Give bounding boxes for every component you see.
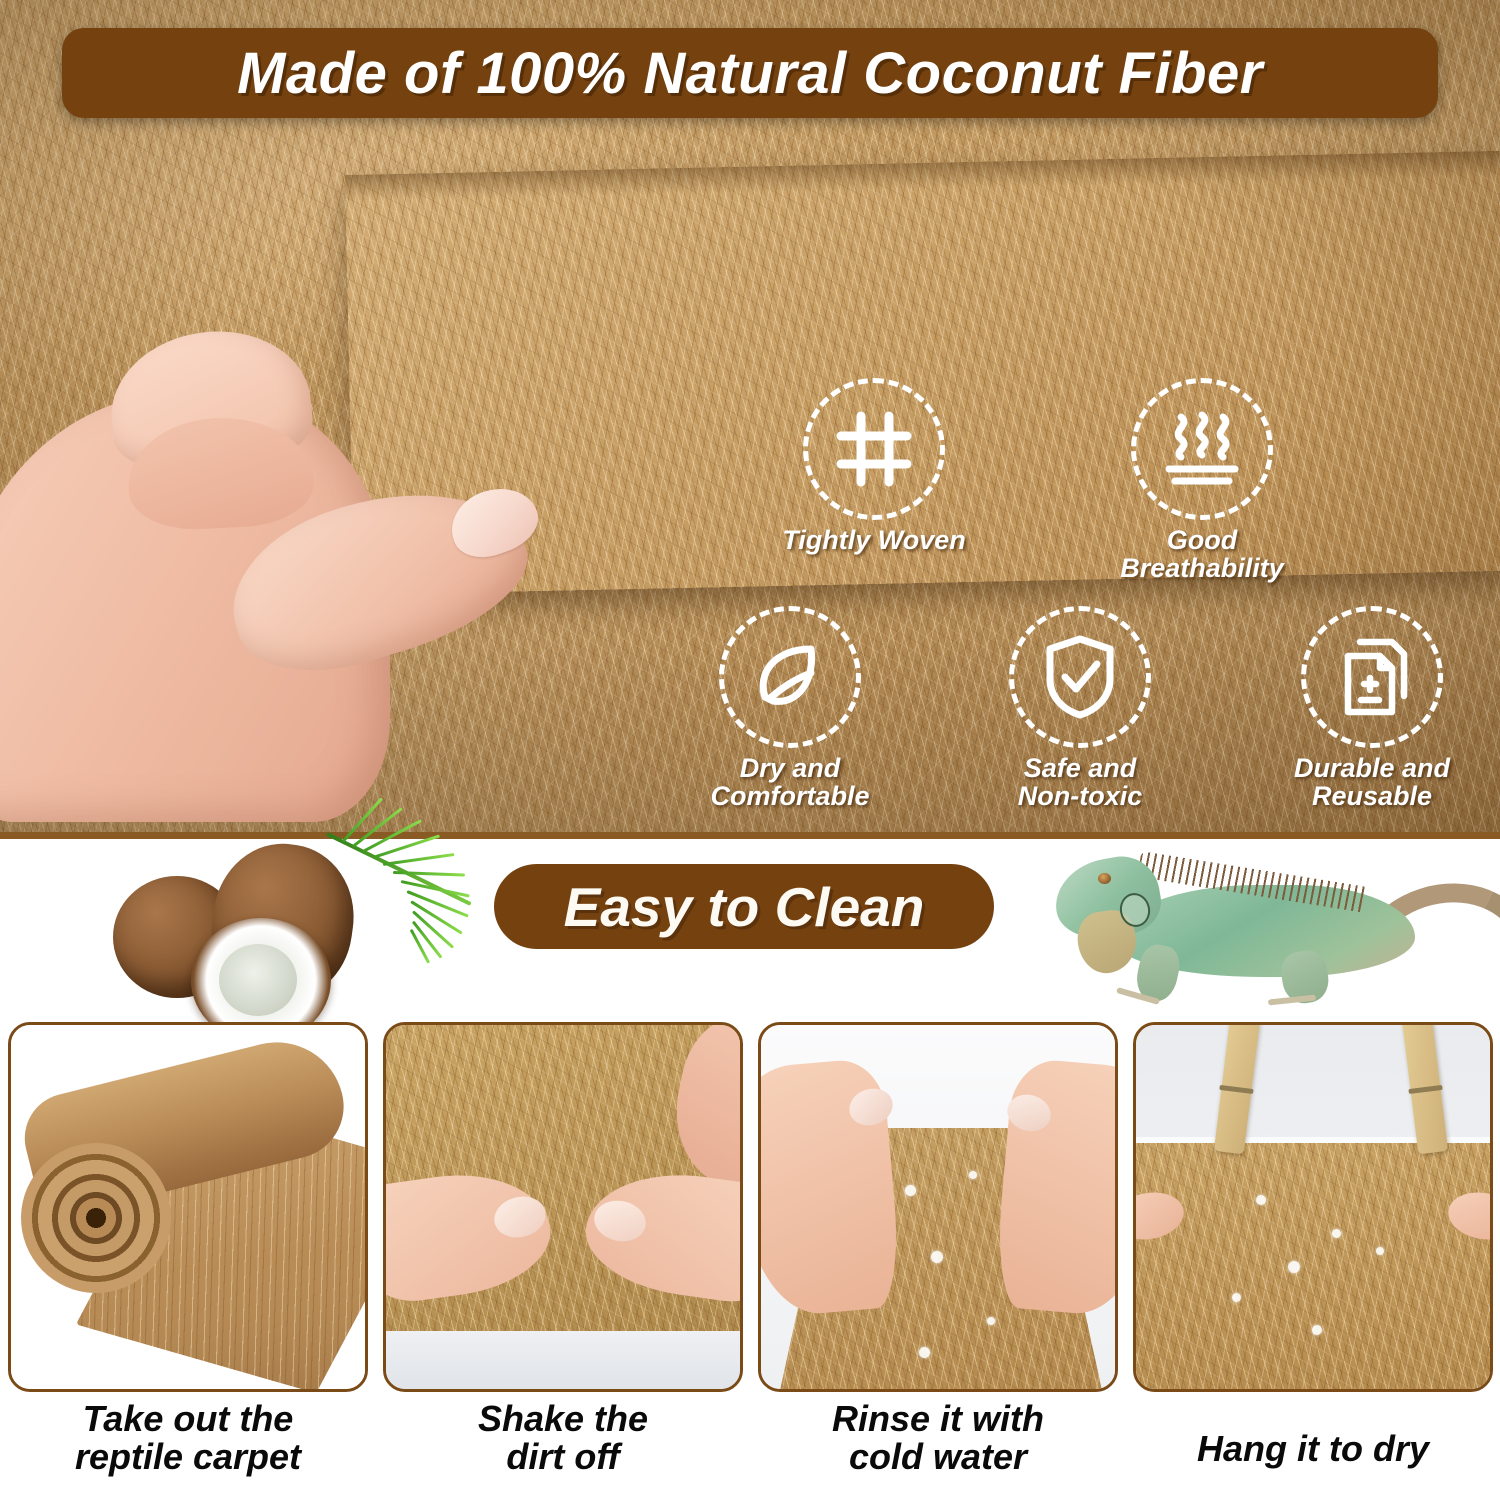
- feature-label: Durable and Reusable: [1257, 754, 1487, 811]
- caption-line1: Shake the: [478, 1398, 648, 1439]
- product-infographic: Made of 100% Natural Coconut Fiber Tight…: [0, 0, 1500, 1499]
- dashed-circle: [1301, 606, 1443, 748]
- hanging-mat: [1136, 1143, 1493, 1392]
- caption-line2: reptile carpet: [75, 1436, 301, 1477]
- water-droplet: [931, 1251, 943, 1263]
- caption-line1: Take out the: [83, 1398, 294, 1439]
- clothespin-spring: [1408, 1085, 1442, 1094]
- shield-check-icon: [1040, 633, 1120, 721]
- caption-line1: Rinse it with: [832, 1398, 1044, 1439]
- easy-to-clean-section: Easy to Clean: [0, 839, 1500, 1020]
- iguana-eye: [1098, 873, 1111, 884]
- step-caption-3: Rinse it with cold water: [758, 1400, 1118, 1476]
- feature-tightly-woven: Tightly Woven: [759, 378, 989, 554]
- coconut-cluster-icon: [95, 834, 485, 1014]
- feature-safe-non-toxic: Safe and Non-toxic: [965, 606, 1195, 811]
- easy-to-clean-title: Easy to Clean: [564, 875, 925, 939]
- clothespin-spring: [1219, 1085, 1253, 1094]
- step-caption-1: Take out the reptile carpet: [8, 1400, 368, 1476]
- water-droplet: [1288, 1261, 1300, 1273]
- water-droplet: [919, 1347, 930, 1358]
- caption-line2: cold water: [849, 1436, 1027, 1477]
- step-card-1: Take out the reptile carpet: [8, 1022, 368, 1476]
- hand-pinching-fiber-icon: [0, 322, 590, 822]
- easy-to-clean-banner: Easy to Clean: [494, 864, 994, 949]
- step-photo-rinse-water: [758, 1022, 1118, 1392]
- stacked-documents-icon: [1330, 634, 1414, 720]
- step-card-3: Rinse it with cold water: [758, 1022, 1118, 1476]
- coconut-pulp: [219, 944, 297, 1016]
- iguana-hind-foot: [1268, 995, 1316, 1006]
- hero-section: Made of 100% Natural Coconut Fiber Tight…: [0, 0, 1500, 838]
- dashed-circle: [1131, 378, 1273, 520]
- feature-label-line2: Comfortable: [710, 781, 869, 811]
- water-droplet: [987, 1317, 995, 1325]
- feature-label-line1: Safe and: [1024, 753, 1137, 783]
- steam-lines-icon: [1159, 409, 1245, 489]
- page-title: Made of 100% Natural Coconut Fiber: [237, 40, 1263, 107]
- feature-label-line1: Dry and: [740, 753, 841, 783]
- step-photo-shake-dirt: [383, 1022, 743, 1392]
- feature-label: Tightly Woven: [759, 526, 989, 554]
- feature-dry-comfortable: Dry and Comfortable: [675, 606, 905, 811]
- water-droplet: [969, 1171, 977, 1179]
- dashed-circle: [803, 378, 945, 520]
- hero-title-banner: Made of 100% Natural Coconut Fiber: [62, 28, 1438, 118]
- step-photo-rolled-carpet: [8, 1022, 368, 1392]
- water-droplet: [905, 1185, 916, 1196]
- water-droplet: [1332, 1229, 1341, 1238]
- caption-line2: dirt off: [506, 1436, 619, 1477]
- feature-label-line1: Durable and: [1294, 753, 1450, 783]
- water-droplet: [1312, 1325, 1322, 1335]
- step-caption-4: Hang it to dry: [1133, 1400, 1493, 1468]
- feature-label: Safe and Non-toxic: [965, 754, 1195, 811]
- step-card-2: Shake the dirt off: [383, 1022, 743, 1476]
- grid-hash-icon: [835, 410, 913, 488]
- feature-durable-reusable: Durable and Reusable: [1257, 606, 1487, 811]
- step-photo-hang-dry: [1133, 1022, 1493, 1392]
- dashed-circle: [1009, 606, 1151, 748]
- water-droplet: [1256, 1195, 1266, 1205]
- feature-label: Dry and Comfortable: [675, 754, 905, 811]
- white-floor: [386, 1331, 743, 1392]
- step-card-4: Hang it to dry: [1133, 1022, 1493, 1468]
- feature-list: Tightly Woven Good Breathability: [735, 378, 1495, 838]
- feature-good-breathability: Good Breathability: [1087, 378, 1317, 583]
- water-droplet: [1376, 1247, 1384, 1255]
- green-iguana-icon: [1020, 833, 1490, 1013]
- dashed-circle: [719, 606, 861, 748]
- water-droplet: [1232, 1293, 1241, 1302]
- cleaning-steps-grid: Take out the reptile carpet Shake t: [0, 1022, 1500, 1499]
- feature-label-line2: Non-toxic: [1018, 781, 1143, 811]
- step-caption-2: Shake the dirt off: [383, 1400, 743, 1476]
- feature-label: Good Breathability: [1087, 526, 1317, 583]
- leaf-icon: [749, 639, 831, 715]
- palm-frond-icon: [327, 832, 495, 992]
- caption-line1: Hang it to dry: [1197, 1428, 1429, 1469]
- frond-stem: [326, 832, 472, 906]
- roll-scene: [11, 1025, 365, 1389]
- feature-label-line2: Reusable: [1312, 781, 1432, 811]
